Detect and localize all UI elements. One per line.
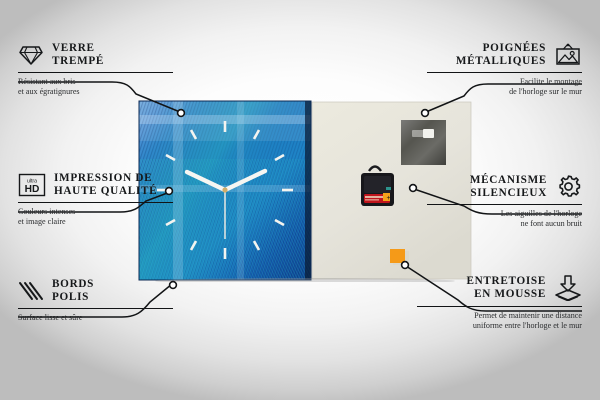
feature-metal-handles: POIGNÉES MÉTALLIQUES Facilite le montage… xyxy=(422,42,582,96)
metal-hanger-plate xyxy=(401,120,446,165)
foam-spacer xyxy=(390,249,409,265)
divider xyxy=(18,308,173,309)
divider xyxy=(18,202,173,203)
gear-icon xyxy=(555,174,582,199)
feature-header: ultra HD IMPRESSION DE HAUTE QUALITÉ xyxy=(18,172,178,197)
diagonal-stripes-icon xyxy=(18,280,44,302)
feature-header: POIGNÉES MÉTALLIQUES xyxy=(422,42,582,67)
feature-title: IMPRESSION DE HAUTE QUALITÉ xyxy=(54,172,157,197)
infographic-canvas: + xyxy=(0,0,600,400)
feature-title: POIGNÉES MÉTALLIQUES xyxy=(456,42,546,67)
feature-title: BORDS POLIS xyxy=(52,278,94,303)
feature-silent-mechanism: MÉCANISME SILENCIEUX Les aiguilles de l'… xyxy=(422,174,582,228)
feature-foam-spacer: ENTRETOISE EN MOUSSE Permet de maintenir… xyxy=(412,275,582,330)
svg-text:HD: HD xyxy=(25,184,40,195)
feature-title: MÉCANISME SILENCIEUX xyxy=(470,174,547,199)
hanging-frame-icon xyxy=(554,43,582,67)
feature-tempered-glass: VERRE TREMPÉ Résistant aux bris et aux é… xyxy=(18,42,178,96)
feature-polished-edges: BORDS POLIS Surface lisse et sûre xyxy=(18,278,178,323)
feature-header: MÉCANISME SILENCIEUX xyxy=(422,174,582,199)
feature-title: VERRE TREMPÉ xyxy=(52,42,104,67)
ultra-hd-badge-icon: ultra HD xyxy=(18,173,46,197)
feature-header: VERRE TREMPÉ xyxy=(18,42,178,67)
diamond-icon xyxy=(18,44,44,66)
feature-print-quality: ultra HD IMPRESSION DE HAUTE QUALITÉ Cou… xyxy=(18,172,178,226)
divider xyxy=(427,72,582,73)
svg-text:+: + xyxy=(387,195,391,202)
arrow-press-layer-icon xyxy=(554,275,582,301)
divider xyxy=(417,306,582,307)
feature-header: ENTRETOISE EN MOUSSE xyxy=(412,275,582,301)
divider xyxy=(427,204,582,205)
feature-header: BORDS POLIS xyxy=(18,278,178,303)
feature-title: ENTRETOISE EN MOUSSE xyxy=(466,275,546,300)
divider xyxy=(18,72,173,73)
